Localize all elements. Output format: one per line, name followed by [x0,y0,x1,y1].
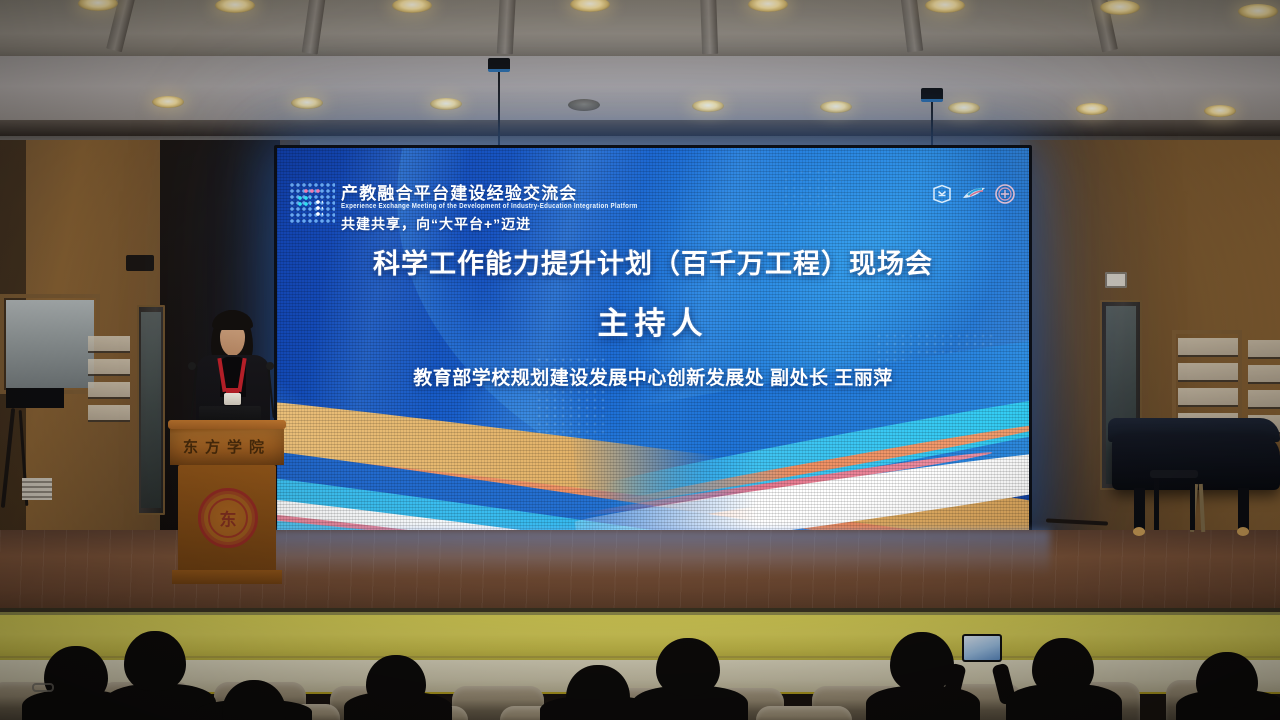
stage-floor-screen-reflection [270,530,1050,576]
audience-eyeglasses-icon [32,683,54,692]
podium-plinth [172,570,282,584]
led-stage-screen: 产教融合平台建设经验交流会 Experience Exchange Meetin… [277,148,1029,538]
grand-piano-body [1112,434,1280,490]
photographer-smartphone[interactable] [962,634,1002,662]
grand-piano-caster [1133,527,1145,536]
door-glass-panel [141,312,161,508]
ceiling-downlight [948,102,980,114]
screen-header-title-cn: 产教融合平台建设经验交流会 [341,179,578,204]
acoustic-panel [1248,365,1280,384]
institution-seal-logo-icon [995,184,1015,204]
audience-head [1196,652,1258,708]
audience-head [1032,638,1094,696]
hanging-microphone-icon [488,58,510,72]
podium-top-surface [168,420,286,429]
ceiling-downlight [820,101,852,113]
audience-head [44,646,108,704]
screen-header-band: 产教融合平台建设经验交流会 Experience Exchange Meetin… [277,162,1029,224]
ceiling-upper-panel [0,0,1280,56]
control-room-equipment [6,388,64,408]
ceiling-downlight [1100,0,1140,15]
organization-logos [931,184,1015,204]
acoustic-panel [88,382,130,399]
ceiling-downlight [430,98,462,110]
screen-header-slogan: 共建共享，向“大平台+”迈进 [341,214,531,234]
grand-piano-leg [1238,488,1249,530]
speaker-id-badge [224,393,241,405]
ceiling-downlight [152,96,184,108]
piano-stool-leg [1154,478,1159,530]
acoustic-panel [88,359,130,376]
audience-head [890,632,954,692]
development-center-logo-icon [962,185,986,203]
ceiling-beam [700,0,718,54]
screen-presenter-line: 教育部学校规划建设发展中心创新发展处 副处长 王丽萍 [277,363,1029,390]
grand-piano-leg [1134,488,1145,530]
wall-mounted-box [126,255,154,271]
ceiling-downlight [568,99,600,111]
audience-seat [756,706,852,720]
acoustic-panel [1248,390,1280,409]
acoustic-panel [1248,340,1280,359]
podium-institution-name: 东方学院 [170,436,284,457]
podium-microphone-head [266,362,274,370]
ceiling-edge-shadow [0,120,1280,136]
pixel-dots-logo-highlight [297,195,311,207]
window-frame [0,294,100,394]
auditorium-scene: 产教融合平台建设经验交流会 Experience Exchange Meetin… [0,0,1280,720]
ceiling-beam [497,0,516,54]
microphone-cable [498,72,500,150]
screen-role-title: 主持人 [277,298,1029,343]
wall-vent [22,478,52,500]
screen-main-title: 科学工作能力提升计划（百千万工程）现场会 [277,242,1029,281]
smartphone-screen [964,636,1000,660]
screen-header-title-en: Experience Exchange Meeting of the Devel… [341,202,638,210]
piano-stool-leg [1190,478,1195,530]
audience-head [124,631,186,691]
audience-head [366,655,426,709]
ceiling-downlight [291,97,323,109]
podium-microphone-head [188,362,196,370]
ceiling-downlight [1238,4,1278,19]
audience-head [566,665,630,720]
wall-speaker-icon [1105,272,1127,288]
ministry-education-logo-icon [931,184,953,204]
pixel-dots-logo-highlight [315,199,323,217]
podium-institution-seal: 东 [198,488,258,548]
acoustic-panel [88,336,130,353]
ceiling-downlight [692,100,724,112]
grand-piano-caster [1237,527,1249,536]
seal-center-mark: 东 [220,506,237,531]
audience-head [656,638,720,696]
ceiling-downlight [1076,103,1108,115]
pixel-dots-logo-highlight [303,188,321,194]
acoustic-panel [88,405,130,422]
piano-stool [1150,470,1198,478]
hanging-microphone-icon [921,88,943,102]
ceiling-downlight [1204,105,1236,117]
